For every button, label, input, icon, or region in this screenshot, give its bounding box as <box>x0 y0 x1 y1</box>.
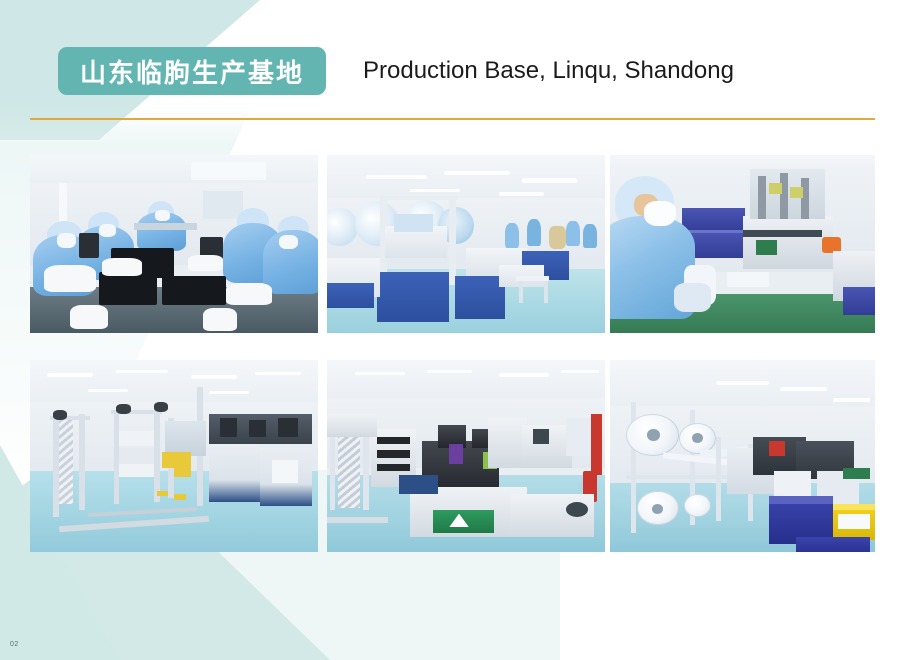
slide-page: 山东临朐生产基地 Production Base, Linqu, Shandon… <box>0 0 900 660</box>
header-divider-rule <box>30 118 875 120</box>
page-number: 02 <box>10 641 19 648</box>
gallery-photo-6 <box>610 360 875 552</box>
photo-gallery-grid <box>30 155 875 552</box>
title-badge-label: 山东临朐生产基地 <box>80 53 304 90</box>
gallery-photo-1 <box>30 155 318 333</box>
page-title-english: Production Base, Linqu, Shandong <box>363 47 734 95</box>
gallery-photo-4 <box>30 360 318 552</box>
title-badge: 山东临朐生产基地 <box>58 47 326 95</box>
gallery-photo-2 <box>327 155 605 333</box>
slide-header: 山东临朐生产基地 Production Base, Linqu, Shandon… <box>0 0 900 130</box>
gallery-photo-3 <box>610 155 875 333</box>
gallery-photo-5 <box>327 360 605 552</box>
